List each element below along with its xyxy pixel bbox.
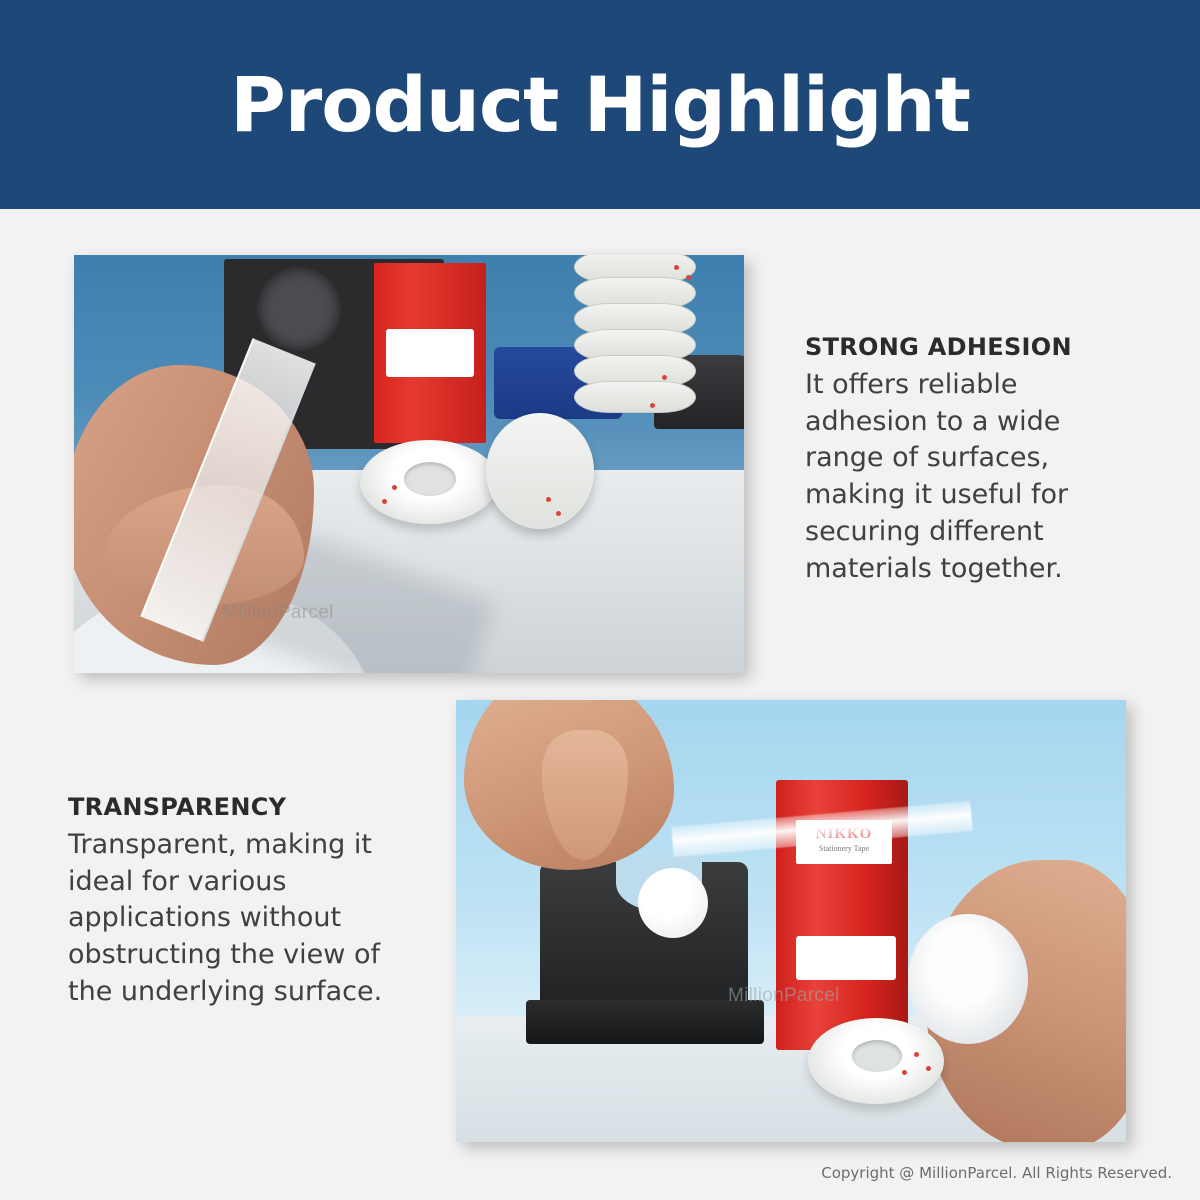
page-title: Product Highlight [230, 67, 970, 143]
feature-title-transparency: TRANSPARENCY [68, 793, 398, 821]
photo-bottom-red-box-label [796, 936, 896, 980]
feature-body-transparency: Transparent, making it ideal for various… [68, 827, 398, 1011]
photo-top-frame-hole [257, 267, 341, 351]
photo-top-stack-dot [686, 275, 691, 280]
photo-top-stack-dot [674, 265, 679, 270]
photo-bottom-dispenser-roll [638, 868, 708, 938]
feature-strong-adhesion: STRONG ADHESION It offers reliable adhes… [805, 333, 1125, 587]
feature-title-strong-adhesion: STRONG ADHESION [805, 333, 1125, 361]
photo-top-tape-stack [574, 255, 694, 441]
photo-top-tape-roll-upright [486, 413, 594, 529]
feature-body-strong-adhesion: It offers reliable adhesion to a wide ra… [805, 367, 1125, 587]
photo-top-roll-dot [382, 499, 387, 504]
photo-top-roll-dot [392, 485, 397, 490]
feature-transparency: TRANSPARENCY Transparent, making it idea… [68, 793, 398, 1011]
photo-bottom-roll-dot [902, 1070, 907, 1075]
photo-bottom-dispenser-base [526, 1000, 764, 1044]
photo-bottom-roll-in-hand [908, 914, 1028, 1044]
product-image-bottom: NIKKO Stationery Tape MillionParcel [456, 700, 1126, 1142]
photo-top-red-box-label [386, 329, 474, 377]
header-banner: Product Highlight [0, 0, 1200, 209]
photo-top-roll-dot [546, 497, 551, 502]
photo-bottom-roll-core [852, 1040, 902, 1072]
copyright-notice: Copyright @ MillionParcel. All Rights Re… [821, 1164, 1172, 1182]
photo-top-stack-dot [662, 375, 667, 380]
product-image-top: MillionParcel [74, 255, 744, 673]
photo-bottom-roll-dot [926, 1066, 931, 1071]
photo-bottom-brand-subtitle: Stationery Tape [802, 844, 886, 853]
photo-bottom-roll-dot [914, 1052, 919, 1057]
photo-top-tape-roll-core [404, 462, 456, 496]
photo-top-roll-dot [556, 511, 561, 516]
photo-top-stack-dot [650, 403, 655, 408]
product-highlight-page: Product Highlight [0, 0, 1200, 1200]
